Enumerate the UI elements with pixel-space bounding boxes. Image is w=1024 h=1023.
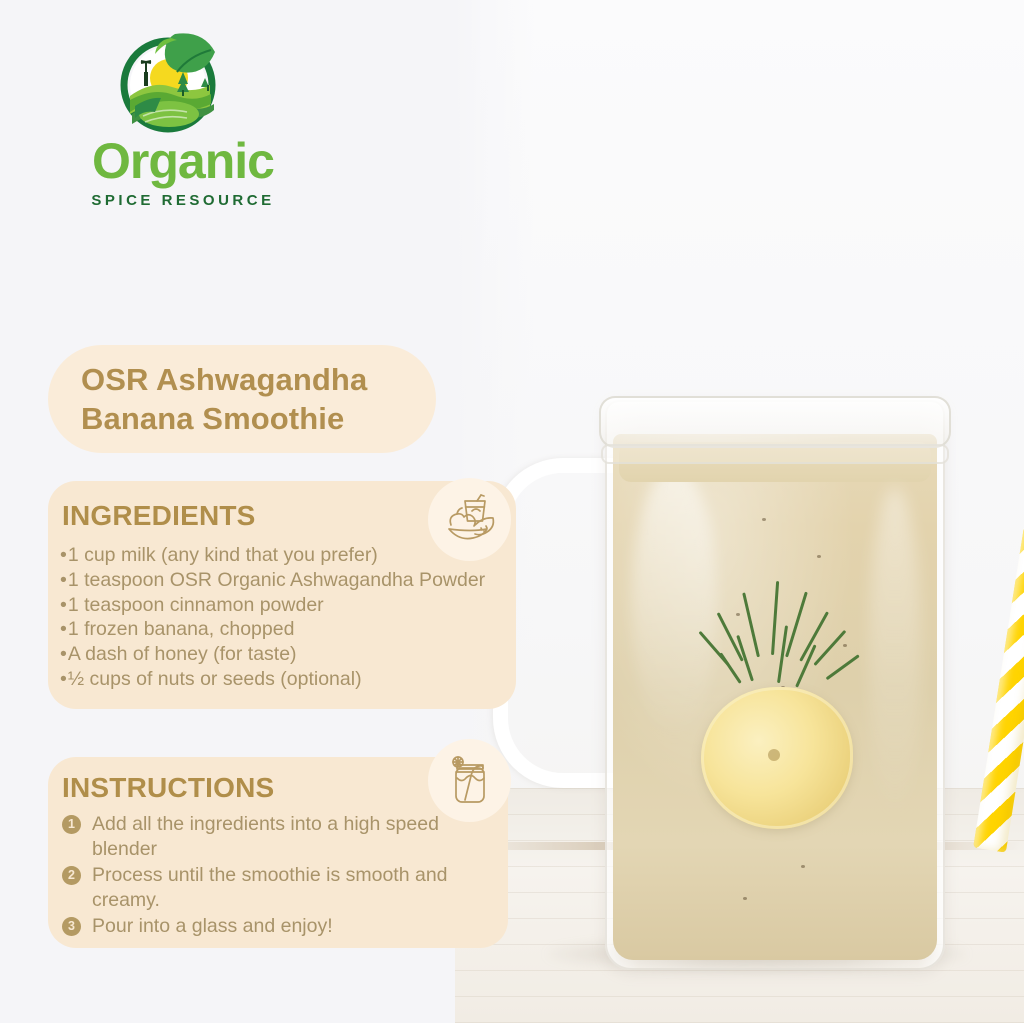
- list-item: •1 teaspoon cinnamon powder: [60, 593, 512, 618]
- farm-landscape-logo-icon: [113, 28, 231, 136]
- step-text: Process until the smoothie is smooth and…: [92, 863, 482, 913]
- smoothie-photo: [455, 0, 1024, 1023]
- list-item: •1 cup milk (any kind that you prefer): [60, 543, 512, 568]
- rosemary-sprig: [683, 555, 873, 705]
- mason-jar-smoothie-icon: [441, 752, 499, 810]
- instructions-icon-badge: [428, 739, 511, 822]
- step-text: Pour into a glass and enjoy!: [92, 914, 482, 939]
- title-line-2: Banana Smoothie: [81, 399, 367, 438]
- step-text: Add all the ingredients into a high spee…: [92, 812, 482, 862]
- ingredients-heading: INGREDIENTS: [62, 500, 256, 532]
- step-number: 1: [62, 815, 81, 834]
- brand-tagline: SPICE RESOURCE: [58, 192, 308, 209]
- fruit-juice-glass-icon: [441, 491, 499, 549]
- page-title: OSR Ashwagandha Banana Smoothie: [48, 360, 367, 438]
- step-number: 2: [62, 866, 81, 885]
- title-line-1: OSR Ashwagandha: [81, 360, 367, 399]
- instructions-list: 1 Add all the ingredients into a high sp…: [62, 812, 482, 940]
- list-item: 2 Process until the smoothie is smooth a…: [62, 863, 482, 913]
- recipe-title-pill: OSR Ashwagandha Banana Smoothie: [48, 345, 436, 453]
- list-item: 1 Add all the ingredients into a high sp…: [62, 812, 482, 862]
- brand-logo: Organic SPICE RESOURCE: [58, 28, 308, 198]
- mason-jar: [605, 400, 945, 970]
- list-item: •1 teaspoon OSR Organic Ashwagandha Powd…: [60, 568, 512, 593]
- list-item: •½ cups of nuts or seeds (optional): [60, 667, 512, 692]
- brand-name: Organic: [58, 136, 308, 186]
- list-item: •A dash of honey (for taste): [60, 642, 512, 667]
- jar-rim-lower: [601, 444, 949, 464]
- instructions-heading: INSTRUCTIONS: [62, 772, 274, 804]
- jar-rim: [599, 396, 951, 448]
- banana-slice-garnish: [701, 687, 853, 829]
- recipe-graphic: Organic SPICE RESOURCE OSR Ashwagandha B…: [0, 0, 1024, 1023]
- list-item: •1 frozen banana, chopped: [60, 617, 512, 642]
- ingredients-list: •1 cup milk (any kind that you prefer) •…: [60, 543, 512, 692]
- list-item: 3 Pour into a glass and enjoy!: [62, 914, 482, 939]
- step-number: 3: [62, 917, 81, 936]
